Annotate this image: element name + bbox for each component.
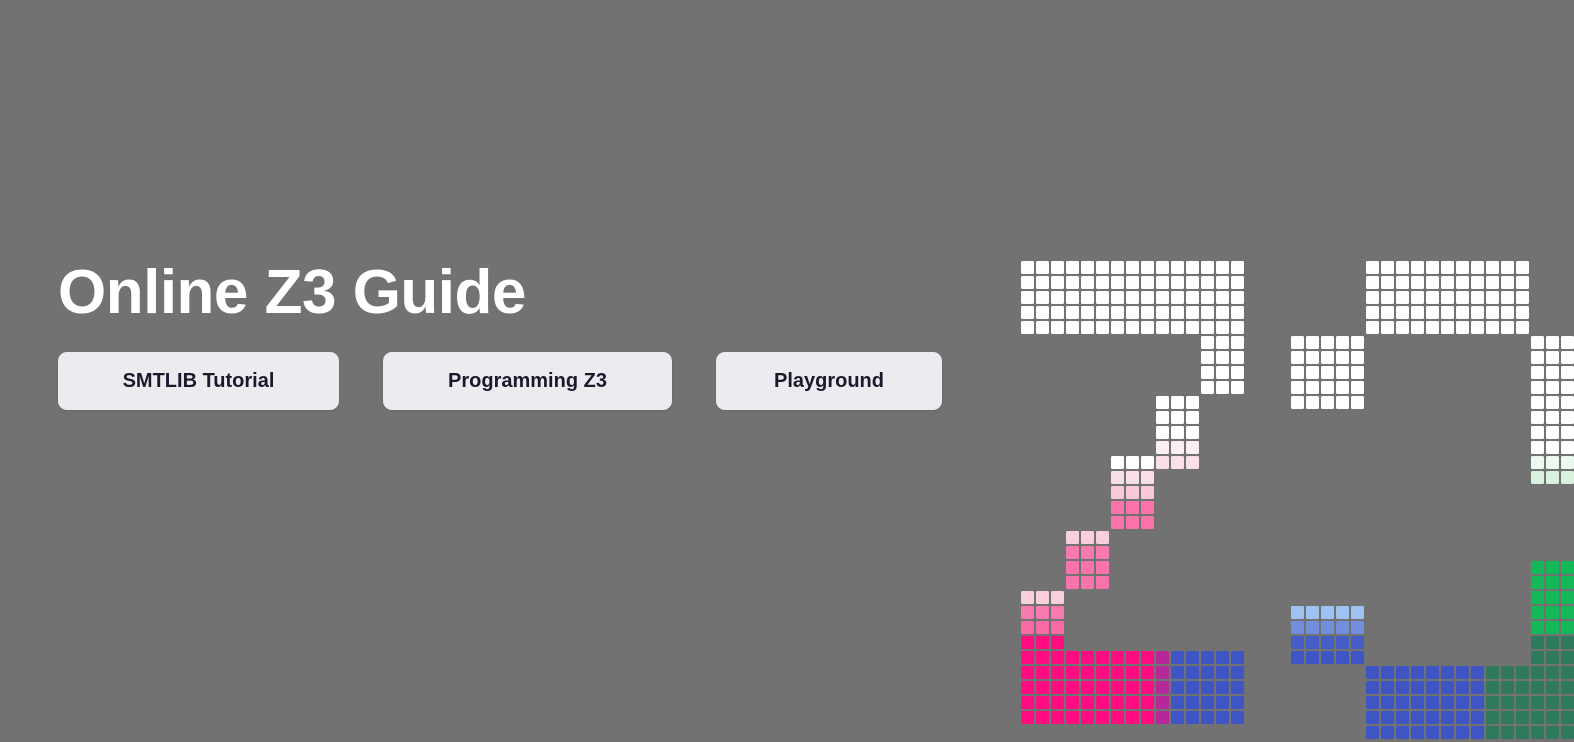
logo-pixel bbox=[1081, 531, 1094, 544]
logo-pixel bbox=[1546, 621, 1559, 634]
logo-pixel bbox=[1336, 396, 1349, 409]
logo-pixel bbox=[1411, 516, 1424, 529]
logo-pixel bbox=[1216, 651, 1229, 664]
logo-pixel bbox=[1456, 546, 1469, 559]
logo-pixel bbox=[1546, 411, 1559, 424]
logo-pixel bbox=[1291, 606, 1304, 619]
logo-pixel bbox=[1186, 276, 1199, 289]
logo-pixel bbox=[1066, 666, 1079, 679]
logo-pixel bbox=[1036, 306, 1049, 319]
logo-pixel bbox=[1126, 696, 1139, 709]
logo-pixel bbox=[1546, 531, 1559, 544]
logo-pixel bbox=[1411, 726, 1424, 739]
logo-pixel bbox=[1096, 306, 1109, 319]
logo-pixel bbox=[1066, 321, 1079, 334]
logo-pixel bbox=[1291, 366, 1304, 379]
logo-pixel bbox=[1231, 276, 1244, 289]
logo-pixel bbox=[1546, 471, 1559, 484]
logo-pixel bbox=[1201, 366, 1214, 379]
logo-pixel bbox=[1231, 381, 1244, 394]
logo-pixel bbox=[1156, 306, 1169, 319]
logo-pixel bbox=[1531, 681, 1544, 694]
logo-pixel bbox=[1366, 291, 1379, 304]
logo-pixel bbox=[1531, 351, 1544, 364]
logo-pixel bbox=[1201, 336, 1214, 349]
logo-pixel bbox=[1531, 471, 1544, 484]
logo-pixel bbox=[1321, 621, 1334, 634]
logo-pixel bbox=[1141, 321, 1154, 334]
logo-pixel bbox=[1231, 321, 1244, 334]
logo-pixel bbox=[1411, 291, 1424, 304]
logo-pixel bbox=[1456, 501, 1469, 514]
logo-pixel bbox=[1531, 456, 1544, 469]
logo-pixel bbox=[1081, 711, 1094, 724]
logo-pixel bbox=[1366, 726, 1379, 739]
logo-pixel bbox=[1471, 531, 1484, 544]
logo-pixel bbox=[1306, 396, 1319, 409]
logo-pixel bbox=[1051, 681, 1064, 694]
logo-pixel bbox=[1486, 321, 1499, 334]
logo-pixel bbox=[1141, 306, 1154, 319]
logo-pixel bbox=[1486, 531, 1499, 544]
logo-pixel bbox=[1111, 516, 1124, 529]
logo-pixel bbox=[1066, 261, 1079, 274]
logo-pixel bbox=[1066, 561, 1079, 574]
logo-pixel bbox=[1141, 651, 1154, 664]
logo-pixel bbox=[1021, 261, 1034, 274]
logo-pixel bbox=[1456, 516, 1469, 529]
logo-pixel bbox=[1336, 336, 1349, 349]
logo-pixel bbox=[1141, 501, 1154, 514]
logo-pixel bbox=[1396, 306, 1409, 319]
logo-pixel bbox=[1171, 441, 1184, 454]
logo-pixel bbox=[1216, 366, 1229, 379]
logo-pixel bbox=[1066, 276, 1079, 289]
logo-pixel bbox=[1336, 636, 1349, 649]
hero-page: Online Z3 Guide SMTLIB Tutorial Programm… bbox=[0, 0, 1574, 742]
logo-pixel bbox=[1561, 366, 1574, 379]
logo-pixel bbox=[1126, 681, 1139, 694]
logo-pixel bbox=[1531, 396, 1544, 409]
logo-pixel bbox=[1306, 351, 1319, 364]
logo-pixel bbox=[1306, 636, 1319, 649]
logo-pixel bbox=[1126, 261, 1139, 274]
logo-pixel bbox=[1471, 306, 1484, 319]
logo-pixel bbox=[1426, 726, 1439, 739]
logo-pixel bbox=[1231, 351, 1244, 364]
logo-pixel bbox=[1351, 621, 1364, 634]
logo-pixel bbox=[1351, 651, 1364, 664]
hero-section: Online Z3 Guide SMTLIB Tutorial Programm… bbox=[58, 258, 958, 410]
logo-pixel bbox=[1171, 456, 1184, 469]
logo-pixel bbox=[1216, 276, 1229, 289]
logo-pixel bbox=[1456, 711, 1469, 724]
logo-pixel bbox=[1516, 276, 1529, 289]
logo-pixel bbox=[1411, 306, 1424, 319]
logo-pixel bbox=[1531, 726, 1544, 739]
logo-pixel bbox=[1531, 561, 1544, 574]
logo-pixel bbox=[1501, 276, 1514, 289]
logo-pixel bbox=[1081, 561, 1094, 574]
logo-pixel bbox=[1201, 711, 1214, 724]
logo-pixel bbox=[1531, 486, 1544, 499]
logo-pixel bbox=[1021, 711, 1034, 724]
logo-pixel bbox=[1531, 666, 1544, 679]
logo-pixel bbox=[1306, 366, 1319, 379]
logo-pixel bbox=[1561, 651, 1574, 664]
logo-pixel bbox=[1096, 291, 1109, 304]
logo-pixel bbox=[1366, 261, 1379, 274]
logo-pixel bbox=[1336, 651, 1349, 664]
logo-pixel bbox=[1381, 306, 1394, 319]
logo-pixel bbox=[1411, 666, 1424, 679]
logo-pixel bbox=[1036, 606, 1049, 619]
logo-pixel bbox=[1201, 291, 1214, 304]
logo-pixel bbox=[1351, 396, 1364, 409]
logo-pixel bbox=[1021, 696, 1034, 709]
logo-pixel bbox=[1561, 336, 1574, 349]
logo-pixel bbox=[1441, 546, 1454, 559]
logo-pixel bbox=[1561, 531, 1574, 544]
logo-pixel bbox=[1426, 321, 1439, 334]
logo-pixel bbox=[1546, 546, 1559, 559]
logo-pixel bbox=[1381, 516, 1394, 529]
logo-pixel bbox=[1501, 681, 1514, 694]
logo-pixel bbox=[1141, 666, 1154, 679]
logo-pixel bbox=[1561, 426, 1574, 439]
logo-pixel bbox=[1051, 261, 1064, 274]
logo-pixel bbox=[1531, 606, 1544, 619]
logo-pixel bbox=[1051, 306, 1064, 319]
logo-pixel bbox=[1291, 651, 1304, 664]
logo-pixel bbox=[1546, 366, 1559, 379]
logo-pixel bbox=[1441, 726, 1454, 739]
logo-pixel bbox=[1051, 291, 1064, 304]
logo-pixel bbox=[1051, 321, 1064, 334]
logo-pixel bbox=[1351, 336, 1364, 349]
logo-pixel bbox=[1111, 681, 1124, 694]
logo-pixel bbox=[1546, 636, 1559, 649]
logo-pixel bbox=[1141, 291, 1154, 304]
logo-pixel bbox=[1171, 681, 1184, 694]
logo-pixel bbox=[1096, 546, 1109, 559]
logo-pixel bbox=[1321, 606, 1334, 619]
logo-pixel bbox=[1081, 576, 1094, 589]
logo-pixel bbox=[1441, 711, 1454, 724]
logo-pixel bbox=[1171, 291, 1184, 304]
logo-pixel bbox=[1366, 696, 1379, 709]
logo-pixel bbox=[1441, 321, 1454, 334]
logo-pixel bbox=[1216, 336, 1229, 349]
logo-pixel bbox=[1426, 516, 1439, 529]
logo-pixel bbox=[1486, 696, 1499, 709]
logo-pixel bbox=[1036, 681, 1049, 694]
logo-pixel bbox=[1126, 471, 1139, 484]
logo-pixel bbox=[1201, 651, 1214, 664]
logo-pixel bbox=[1231, 306, 1244, 319]
logo-pixel bbox=[1156, 396, 1169, 409]
logo-pixel bbox=[1051, 591, 1064, 604]
logo-pixel bbox=[1366, 276, 1379, 289]
logo-pixel bbox=[1441, 531, 1454, 544]
logo-pixel bbox=[1561, 621, 1574, 634]
logo-pixel bbox=[1561, 546, 1574, 559]
logo-pixel bbox=[1471, 681, 1484, 694]
logo-pixel bbox=[1411, 546, 1424, 559]
logo-pixel bbox=[1501, 516, 1514, 529]
logo-pixel bbox=[1126, 321, 1139, 334]
logo-pixel bbox=[1516, 516, 1529, 529]
logo-pixel bbox=[1516, 321, 1529, 334]
logo-pixel bbox=[1486, 546, 1499, 559]
logo-pixel bbox=[1336, 351, 1349, 364]
logo-pixel bbox=[1456, 321, 1469, 334]
logo-pixel bbox=[1126, 666, 1139, 679]
logo-pixel bbox=[1021, 666, 1034, 679]
logo-pixel bbox=[1111, 456, 1124, 469]
logo-pixel bbox=[1186, 681, 1199, 694]
logo-pixel bbox=[1186, 441, 1199, 454]
logo-pixel bbox=[1201, 276, 1214, 289]
logo-pixel bbox=[1531, 531, 1544, 544]
logo-pixel bbox=[1561, 516, 1574, 529]
logo-pixel bbox=[1516, 696, 1529, 709]
logo-pixel bbox=[1381, 291, 1394, 304]
logo-pixel bbox=[1051, 276, 1064, 289]
logo-pixel bbox=[1111, 471, 1124, 484]
logo-pixel bbox=[1096, 576, 1109, 589]
logo-pixel bbox=[1486, 516, 1499, 529]
logo-pixel bbox=[1486, 666, 1499, 679]
logo-pixel bbox=[1456, 486, 1469, 499]
logo-pixel bbox=[1561, 576, 1574, 589]
logo-pixel bbox=[1546, 486, 1559, 499]
logo-pixel bbox=[1156, 456, 1169, 469]
logo-pixel bbox=[1531, 576, 1544, 589]
programming-z3-button[interactable]: Programming Z3 bbox=[383, 352, 672, 410]
logo-pixel bbox=[1546, 711, 1559, 724]
logo-pixel bbox=[1036, 291, 1049, 304]
logo-pixel bbox=[1366, 516, 1379, 529]
logo-pixel bbox=[1141, 696, 1154, 709]
logo-pixel bbox=[1096, 531, 1109, 544]
logo-pixel bbox=[1156, 291, 1169, 304]
logo-pixel bbox=[1021, 276, 1034, 289]
logo-pixel bbox=[1381, 486, 1394, 499]
logo-pixel bbox=[1186, 411, 1199, 424]
hero-button-row: SMTLIB Tutorial Programming Z3 Playgroun… bbox=[58, 352, 958, 410]
logo-pixel bbox=[1066, 531, 1079, 544]
logo-pixel bbox=[1231, 366, 1244, 379]
logo-pixel bbox=[1066, 306, 1079, 319]
logo-pixel bbox=[1291, 336, 1304, 349]
logo-pixel bbox=[1141, 276, 1154, 289]
logo-pixel bbox=[1411, 276, 1424, 289]
logo-pixel bbox=[1171, 276, 1184, 289]
logo-pixel bbox=[1291, 621, 1304, 634]
logo-pixel bbox=[1501, 321, 1514, 334]
logo-pixel bbox=[1096, 666, 1109, 679]
logo-pixel bbox=[1126, 276, 1139, 289]
logo-pixel bbox=[1546, 396, 1559, 409]
logo-pixel bbox=[1486, 291, 1499, 304]
logo-pixel bbox=[1546, 381, 1559, 394]
logo-pixel bbox=[1381, 726, 1394, 739]
logo-pixel bbox=[1546, 456, 1559, 469]
logo-pixel bbox=[1516, 501, 1529, 514]
logo-pixel bbox=[1516, 261, 1529, 274]
logo-pixel bbox=[1396, 546, 1409, 559]
logo-pixel bbox=[1336, 621, 1349, 634]
logo-pixel bbox=[1096, 261, 1109, 274]
logo-pixel bbox=[1456, 531, 1469, 544]
logo-pixel bbox=[1396, 681, 1409, 694]
logo-pixel bbox=[1156, 321, 1169, 334]
logo-pixel bbox=[1171, 711, 1184, 724]
logo-pixel bbox=[1351, 381, 1364, 394]
logo-pixel bbox=[1516, 291, 1529, 304]
logo-pixel bbox=[1411, 261, 1424, 274]
logo-pixel bbox=[1111, 261, 1124, 274]
logo-pixel bbox=[1366, 531, 1379, 544]
logo-pixel bbox=[1111, 666, 1124, 679]
logo-pixel bbox=[1081, 321, 1094, 334]
logo-pixel bbox=[1171, 411, 1184, 424]
smtlib-tutorial-button[interactable]: SMTLIB Tutorial bbox=[58, 352, 339, 410]
logo-pixel bbox=[1291, 636, 1304, 649]
logo-pixel bbox=[1486, 681, 1499, 694]
logo-pixel bbox=[1381, 321, 1394, 334]
logo-pixel bbox=[1186, 306, 1199, 319]
logo-pixel bbox=[1126, 516, 1139, 529]
logo-pixel bbox=[1231, 651, 1244, 664]
logo-pixel bbox=[1366, 681, 1379, 694]
logo-pixel bbox=[1561, 486, 1574, 499]
logo-pixel bbox=[1426, 666, 1439, 679]
logo-pixel bbox=[1186, 426, 1199, 439]
logo-pixel bbox=[1531, 426, 1544, 439]
logo-pixel bbox=[1036, 321, 1049, 334]
logo-pixel bbox=[1171, 321, 1184, 334]
logo-pixel bbox=[1141, 516, 1154, 529]
logo-pixel bbox=[1381, 696, 1394, 709]
logo-pixel bbox=[1081, 306, 1094, 319]
logo-pixel bbox=[1531, 411, 1544, 424]
logo-pixel bbox=[1531, 711, 1544, 724]
logo-pixel bbox=[1171, 696, 1184, 709]
logo-pixel bbox=[1531, 381, 1544, 394]
logo-pixel bbox=[1066, 576, 1079, 589]
logo-pixel bbox=[1546, 336, 1559, 349]
logo-pixel bbox=[1471, 726, 1484, 739]
logo-pixel bbox=[1546, 501, 1559, 514]
logo-pixel bbox=[1561, 411, 1574, 424]
logo-pixel bbox=[1501, 546, 1514, 559]
logo-pixel bbox=[1036, 276, 1049, 289]
logo-pixel bbox=[1216, 381, 1229, 394]
logo-pixel bbox=[1486, 261, 1499, 274]
logo-pixel bbox=[1126, 291, 1139, 304]
logo-pixel bbox=[1411, 501, 1424, 514]
playground-button[interactable]: Playground bbox=[716, 352, 942, 410]
logo-pixel bbox=[1036, 696, 1049, 709]
logo-pixel bbox=[1126, 711, 1139, 724]
logo-pixel bbox=[1081, 546, 1094, 559]
logo-pixel bbox=[1561, 501, 1574, 514]
logo-pixel bbox=[1141, 471, 1154, 484]
logo-pixel bbox=[1306, 651, 1319, 664]
logo-pixel bbox=[1096, 321, 1109, 334]
logo-pixel bbox=[1171, 306, 1184, 319]
logo-pixel bbox=[1426, 546, 1439, 559]
logo-pixel bbox=[1426, 291, 1439, 304]
logo-pixel bbox=[1516, 666, 1529, 679]
logo-pixel bbox=[1486, 276, 1499, 289]
logo-pixel bbox=[1156, 411, 1169, 424]
logo-pixel bbox=[1096, 276, 1109, 289]
logo-pixel bbox=[1111, 696, 1124, 709]
logo-pixel bbox=[1426, 711, 1439, 724]
logo-pixel bbox=[1561, 396, 1574, 409]
logo-pixel bbox=[1021, 636, 1034, 649]
logo-pixel bbox=[1546, 696, 1559, 709]
logo-pixel bbox=[1081, 696, 1094, 709]
logo-pixel bbox=[1021, 591, 1034, 604]
logo-pixel bbox=[1216, 696, 1229, 709]
logo-pixel bbox=[1441, 501, 1454, 514]
logo-pixel bbox=[1201, 261, 1214, 274]
logo-pixel bbox=[1561, 471, 1574, 484]
logo-pixel bbox=[1396, 291, 1409, 304]
logo-pixel bbox=[1216, 351, 1229, 364]
logo-pixel bbox=[1471, 486, 1484, 499]
logo-pixel bbox=[1021, 291, 1034, 304]
logo-pixel bbox=[1396, 486, 1409, 499]
logo-pixel bbox=[1426, 486, 1439, 499]
logo-pixel bbox=[1531, 501, 1544, 514]
logo-pixel bbox=[1336, 366, 1349, 379]
logo-pixel bbox=[1501, 711, 1514, 724]
logo-pixel bbox=[1441, 666, 1454, 679]
logo-pixel bbox=[1066, 651, 1079, 664]
logo-pixel bbox=[1411, 696, 1424, 709]
logo-pixel bbox=[1411, 321, 1424, 334]
logo-pixel bbox=[1471, 276, 1484, 289]
logo-pixel bbox=[1201, 321, 1214, 334]
logo-pixel bbox=[1531, 621, 1544, 634]
logo-pixel bbox=[1396, 531, 1409, 544]
logo-pixel bbox=[1501, 291, 1514, 304]
logo-pixel bbox=[1531, 366, 1544, 379]
logo-pixel bbox=[1096, 651, 1109, 664]
logo-pixel bbox=[1321, 366, 1334, 379]
logo-pixel bbox=[1306, 606, 1319, 619]
logo-pixel bbox=[1396, 321, 1409, 334]
logo-pixel bbox=[1231, 696, 1244, 709]
logo-pixel bbox=[1186, 261, 1199, 274]
logo-pixel bbox=[1216, 666, 1229, 679]
logo-pixel bbox=[1081, 651, 1094, 664]
logo-pixel bbox=[1516, 546, 1529, 559]
logo-pixel bbox=[1366, 666, 1379, 679]
logo-pixel bbox=[1051, 711, 1064, 724]
logo-pixel bbox=[1531, 696, 1544, 709]
logo-pixel bbox=[1201, 696, 1214, 709]
logo-pixel bbox=[1111, 276, 1124, 289]
logo-pixel bbox=[1396, 516, 1409, 529]
logo-pixel bbox=[1186, 651, 1199, 664]
logo-pixel bbox=[1546, 576, 1559, 589]
